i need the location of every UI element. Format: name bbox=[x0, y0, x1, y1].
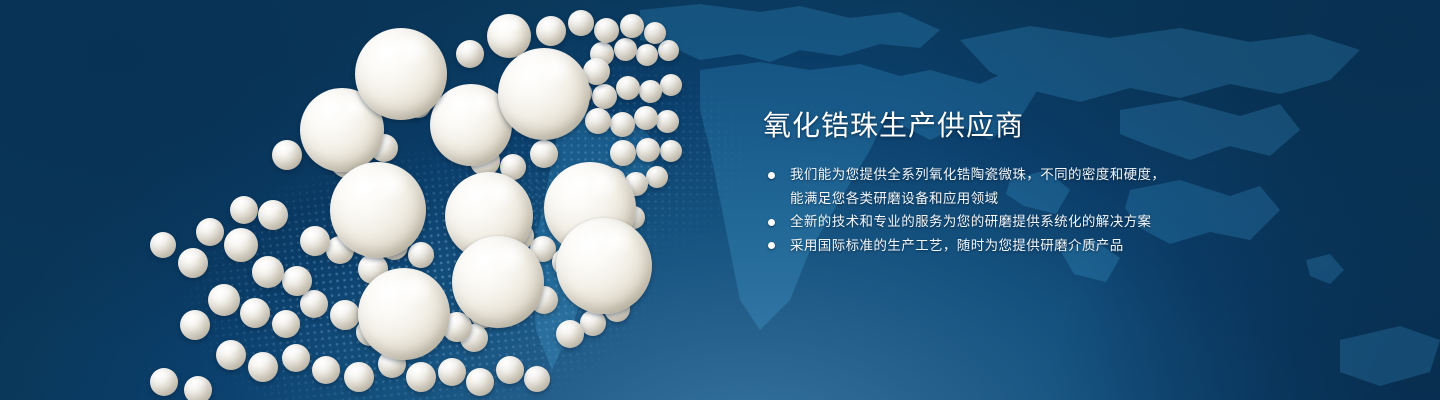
ceramic-bead bbox=[610, 140, 636, 166]
ceramic-bead bbox=[498, 48, 590, 140]
ceramic-bead bbox=[258, 200, 288, 230]
ceramic-bead bbox=[358, 268, 450, 360]
ceramic-bead bbox=[658, 40, 679, 61]
ceramic-bead bbox=[248, 352, 278, 382]
bullet-line: 能满足您各类研磨设备和应用领域 bbox=[790, 187, 1283, 211]
ceramic-bead bbox=[184, 376, 212, 400]
feature-bullet-2: 全新的技术和专业的服务为您的研磨提供系统化的解决方案 bbox=[763, 210, 1283, 234]
ceramic-bead bbox=[656, 110, 679, 133]
ceramic-bead bbox=[344, 362, 374, 392]
ceramic-bead bbox=[196, 218, 224, 246]
feature-bullet-1: 我们能为您提供全系列氧化锆陶瓷微珠，不同的密度和硬度，能满足您各类研磨设备和应用… bbox=[763, 163, 1283, 210]
ceramic-bead bbox=[524, 366, 550, 392]
ceramic-bead bbox=[312, 356, 340, 384]
ceramic-bead bbox=[646, 166, 668, 188]
bullet-line: 全新的技术和专业的服务为您的研磨提供系统化的解决方案 bbox=[790, 210, 1283, 234]
bullet-dot-icon bbox=[768, 242, 775, 249]
ceramic-bead bbox=[616, 76, 640, 100]
hero-banner: 氧化锆珠生产供应商 我们能为您提供全系列氧化锆陶瓷微珠，不同的密度和硬度，能满足… bbox=[0, 0, 1440, 400]
ceramic-bead bbox=[180, 310, 210, 340]
ceramic-bead bbox=[216, 340, 246, 370]
bullet-dot-icon bbox=[768, 219, 775, 226]
zirconia-beads-photo bbox=[0, 0, 760, 400]
ceramic-bead bbox=[614, 38, 637, 61]
ceramic-bead bbox=[636, 44, 658, 66]
banner-copy: 氧化锆珠生产供应商 我们能为您提供全系列氧化锆陶瓷微珠，不同的密度和硬度，能满足… bbox=[763, 106, 1283, 257]
ceramic-bead bbox=[208, 284, 240, 316]
ceramic-bead bbox=[585, 108, 611, 134]
ceramic-bead bbox=[330, 300, 360, 330]
ceramic-bead bbox=[556, 320, 584, 348]
bullet-dot-icon bbox=[768, 172, 775, 179]
ceramic-bead bbox=[592, 84, 617, 109]
ceramic-bead bbox=[660, 140, 682, 162]
ceramic-bead bbox=[620, 14, 644, 38]
ceramic-bead bbox=[240, 298, 270, 328]
ceramic-bead bbox=[594, 18, 619, 43]
ceramic-bead bbox=[452, 236, 544, 328]
ceramic-bead bbox=[466, 368, 494, 396]
ceramic-bead bbox=[406, 362, 436, 392]
ceramic-bead bbox=[639, 80, 662, 103]
ceramic-bead bbox=[530, 140, 558, 168]
ceramic-bead bbox=[610, 112, 635, 137]
ceramic-bead bbox=[300, 290, 328, 318]
bullet-line: 我们能为您提供全系列氧化锆陶瓷微珠，不同的密度和硬度， bbox=[790, 163, 1283, 187]
feature-bullet-3: 采用国际标准的生产工艺，随时为您提供研磨介质产品 bbox=[763, 234, 1283, 258]
ceramic-bead bbox=[230, 196, 258, 224]
ceramic-bead bbox=[496, 356, 524, 384]
ceramic-bead bbox=[300, 226, 330, 256]
ceramic-bead bbox=[272, 310, 300, 338]
ceramic-bead bbox=[556, 218, 652, 314]
ceramic-bead bbox=[536, 16, 566, 46]
ceramic-bead bbox=[150, 232, 176, 258]
ceramic-bead bbox=[355, 28, 447, 120]
ceramic-bead bbox=[568, 10, 594, 36]
ceramic-bead bbox=[636, 138, 660, 162]
ceramic-bead bbox=[456, 40, 484, 68]
ceramic-bead bbox=[438, 358, 466, 386]
page-title: 氧化锆珠生产供应商 bbox=[763, 106, 1283, 146]
ceramic-bead bbox=[634, 106, 658, 130]
bullet-line: 采用国际标准的生产工艺，随时为您提供研磨介质产品 bbox=[790, 234, 1283, 258]
ceramic-bead bbox=[224, 228, 258, 262]
ceramic-bead bbox=[330, 162, 426, 258]
ceramic-bead bbox=[408, 242, 434, 268]
ceramic-bead bbox=[644, 22, 666, 44]
ceramic-bead bbox=[272, 140, 302, 170]
feature-bullet-list: 我们能为您提供全系列氧化锆陶瓷微珠，不同的密度和硬度，能满足您各类研磨设备和应用… bbox=[763, 163, 1283, 257]
ceramic-bead bbox=[282, 344, 310, 372]
ceramic-bead bbox=[660, 74, 682, 96]
ceramic-bead bbox=[150, 368, 178, 396]
ceramic-bead bbox=[282, 266, 312, 296]
ceramic-bead bbox=[252, 256, 284, 288]
ceramic-bead bbox=[178, 248, 208, 278]
